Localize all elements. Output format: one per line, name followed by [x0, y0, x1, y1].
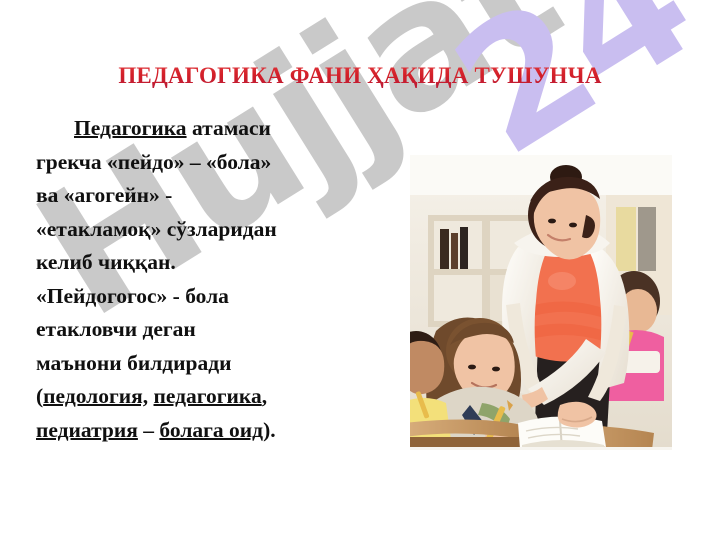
body-term-underlined: Педагогика: [74, 116, 187, 140]
slide-title: ПЕДАГОГИКА ФАНИ ҲАҚИДА ТУШУНЧА: [36, 63, 684, 89]
slide-root: Hujjat 24 ПЕДАГОГИКА ФАНИ ҲАҚИДА ТУШУНЧА…: [0, 0, 720, 540]
body-line: Педагогика атамаси: [36, 112, 416, 146]
body-text-run: грекча «пейдо» – «бола»: [36, 150, 271, 174]
body-line: (педология, педагогика,: [36, 380, 416, 414]
body-text-run: –: [138, 418, 160, 442]
body-line: ва «агогейн» -: [36, 179, 416, 213]
body-text-run: ).: [263, 418, 276, 442]
body-line: грекча «пейдо» – «бола»: [36, 146, 416, 180]
body-line: педиатрия – болага оид).: [36, 414, 416, 448]
body-line: маънони билдиради: [36, 347, 416, 381]
body-text-run: «Пейдогогос» - бола: [36, 284, 229, 308]
body-text-run: маънони билдиради: [36, 351, 232, 375]
body-term-underlined: педология,: [43, 384, 148, 408]
body-text-run: «етакламоқ» сўзларидан: [36, 217, 277, 241]
body-text-run: атамаси: [187, 116, 271, 140]
body-text-run: келиб чиққан.: [36, 250, 176, 274]
body-text-run: етакловчи деган: [36, 317, 196, 341]
body-term-underlined: педагогика: [154, 384, 262, 408]
body-text-run: ва «агогейн» -: [36, 183, 172, 207]
slide-body-text: Педагогика атамасигрекча «пейдо» – «бола…: [36, 112, 416, 447]
body-line: «Пейдогогос» - бола: [36, 280, 416, 314]
body-term-underlined: болага оид: [159, 418, 263, 442]
body-line: етакловчи деган: [36, 313, 416, 347]
body-term-underlined: педиатрия: [36, 418, 138, 442]
body-line: келиб чиққан.: [36, 246, 416, 280]
classroom-photo: [410, 155, 672, 450]
body-text-run: ,: [262, 384, 267, 408]
body-line: «етакламоқ» сўзларидан: [36, 213, 416, 247]
